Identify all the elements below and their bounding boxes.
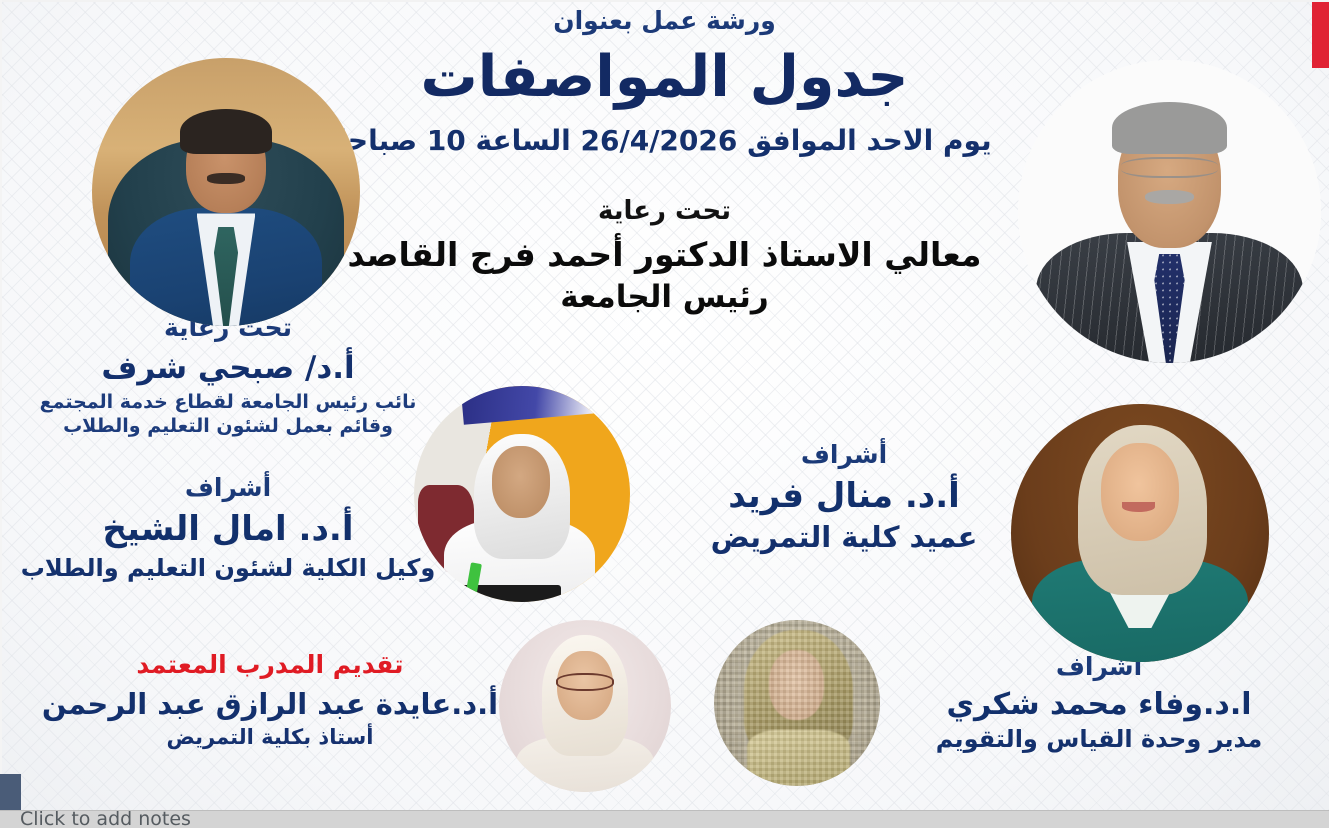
quality-unit-name: ا.د.وفاء محمد شكري [899, 687, 1299, 724]
vice-president-role-line2: وقائم بعمل لشئون التعليم والطلاب [8, 415, 448, 438]
event-datetime: يوم الاحد الموافق 26/4/2026 الساعة 10 صب… [305, 124, 1025, 158]
portrait-trainer-image [499, 620, 671, 792]
portrait-university-president[interactable] [1018, 60, 1321, 363]
slide-header: ورشة عمل بعنوان جدول المواصفات يوم الاحد… [305, 6, 1025, 158]
patron-role: رئيس الجامعة [305, 279, 1025, 317]
dean-label: أشراف [664, 440, 1024, 471]
notes-placeholder[interactable]: Click to add notes [20, 810, 191, 828]
vice-dean-name: أ.د. امال الشيخ [8, 509, 448, 550]
portrait-quality-unit-director-image [714, 620, 880, 786]
quality-unit-role: مدير وحدة القياس والتقويم [899, 725, 1299, 754]
portrait-university-president-image [1018, 60, 1321, 363]
trainer-role: أستاذ بكلية التمريض [40, 725, 500, 751]
dean-role: عميد كلية التمريض [664, 520, 1024, 555]
page-title: جدول المواصفات [305, 43, 1025, 113]
portrait-vice-president-image [92, 58, 360, 326]
vice-dean-role: وكيل الكلية لشئون التعليم والطلاب [8, 554, 448, 583]
portrait-vice-president[interactable] [92, 58, 360, 326]
patron-name: معالي الاستاذ الدكتور أحمد فرج القاصد [305, 235, 1025, 275]
portrait-vice-dean-image [414, 386, 630, 602]
powerpoint-slide-view: ورشة عمل بعنوان جدول المواصفات يوم الاحد… [0, 0, 1329, 828]
blue-accent-block [0, 774, 21, 810]
portrait-dean-image [1011, 404, 1269, 662]
workshop-kicker: ورشة عمل بعنوان [305, 6, 1025, 37]
vice-president-name: أ.د/ صبحي شرف [8, 350, 448, 388]
vice-dean-label: أشراف [8, 473, 448, 504]
portrait-quality-unit-director[interactable] [714, 620, 880, 786]
notes-pane[interactable]: Click to add notes [0, 810, 1329, 828]
vice-president-block: تحت رعاية أ.د/ صبحي شرف نائب رئيس الجامع… [8, 313, 448, 439]
patron-block: تحت رعاية معالي الاستاذ الدكتور أحمد فرج… [305, 196, 1025, 317]
vice-dean-block: أشراف أ.د. امال الشيخ وكيل الكلية لشئون … [8, 473, 448, 583]
portrait-trainer[interactable] [499, 620, 671, 792]
portrait-vice-dean[interactable] [414, 386, 630, 602]
vice-president-role-line1: نائب رئيس الجامعة لقطاع خدمة المجتمع [8, 391, 448, 414]
trainer-label: تقديم المدرب المعتمد [40, 650, 500, 681]
red-accent-bar [1312, 2, 1329, 68]
dean-block: أشراف أ.د. منال فريد عميد كلية التمريض [664, 440, 1024, 555]
trainer-block: تقديم المدرب المعتمد أ.د.عايدة عبد الراز… [40, 650, 500, 750]
portrait-dean[interactable] [1011, 404, 1269, 662]
dean-name: أ.د. منال فريد [664, 476, 1024, 517]
slide-left-edge [0, 0, 2, 810]
slide-canvas[interactable]: ورشة عمل بعنوان جدول المواصفات يوم الاحد… [0, 0, 1329, 810]
patron-label: تحت رعاية [305, 196, 1025, 228]
quality-unit-block: أشراف ا.د.وفاء محمد شكري مدير وحدة القيا… [899, 652, 1299, 754]
slide-top-edge [0, 0, 1329, 2]
trainer-name: أ.د.عايدة عبد الرازق عبد الرحمن [40, 687, 500, 722]
